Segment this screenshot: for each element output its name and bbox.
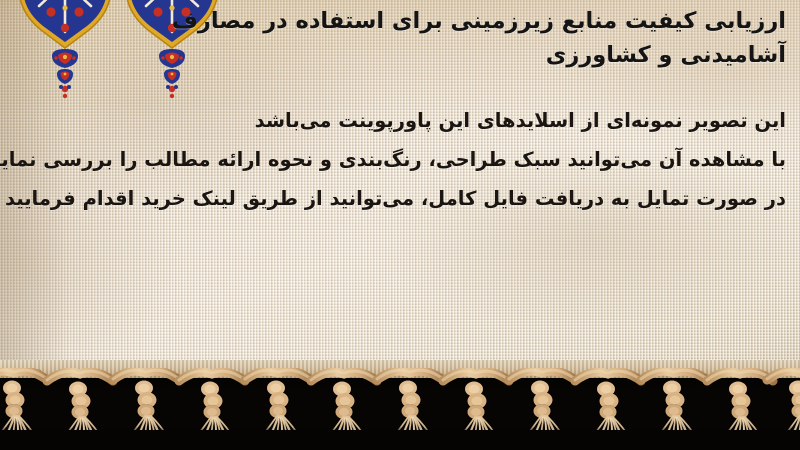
- slide-title-line-2: آشامیدنی و کشاورزی: [14, 38, 786, 72]
- slide-title-line-1: ارزیابی کیفیت منابع زیرزمینی برای استفاد…: [14, 4, 786, 38]
- slide-body: این تصویر نمونه‌ای از اسلایدهای این پاور…: [14, 72, 786, 218]
- slide-body-line-1: این تصویر نمونه‌ای از اسلایدهای این پاور…: [14, 102, 786, 141]
- slide-title: ارزیابی کیفیت منابع زیرزمینی برای استفاد…: [14, 0, 786, 72]
- slide-text-layer: ارزیابی کیفیت منابع زیرزمینی برای استفاد…: [0, 0, 800, 372]
- bottom-black-band: [0, 430, 800, 450]
- slide-body-line-3: در صورت تمایل به دریافت فایل کامل، می‌تو…: [14, 180, 786, 219]
- slide-body-line-2: با مشاهده آن می‌توانید سبک طراحی، رنگ‌بن…: [14, 141, 786, 180]
- slide-canvas: ارزیابی کیفیت منابع زیرزمینی برای استفاد…: [0, 0, 800, 450]
